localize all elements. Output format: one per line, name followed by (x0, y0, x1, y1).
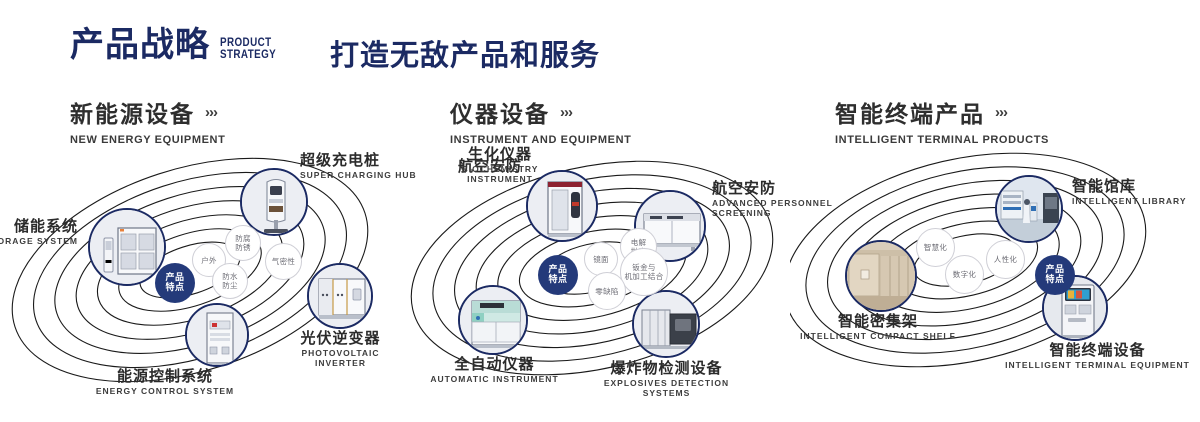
label-photovoltaic-inverter: 光伏逆变器 PHOTOVOLTAIC INVERTER (283, 330, 398, 369)
automatic-instrument-icon (460, 287, 526, 353)
compact-shelf-icon (847, 242, 915, 310)
smart-library-icon (997, 177, 1061, 241)
section-title-instrument: 仪器设备 ››› INSTRUMENT AND EQUIPMENT (450, 95, 631, 146)
label-intelligent-library: 智能馆库 INTELLIGENT LIBRARY (1072, 178, 1200, 207)
section-title-new-energy: 新能源设备 ››› NEW ENERGY EQUIPMENT (70, 95, 225, 146)
node-label-en: ENERGY STORAGE SYSTEM (0, 237, 78, 247)
node-label-cn: 能源控制系统 (80, 368, 250, 385)
section-title-terminal: 智能终端产品 ››› INTELLIGENT TERMINAL PRODUCTS (835, 95, 1049, 146)
node-energy-storage-system[interactable] (88, 208, 166, 286)
chevron-right-icon: ››› (560, 104, 572, 121)
hub-label-line2: 特点 (548, 275, 567, 285)
section-title-en: NEW ENERGY EQUIPMENT (70, 134, 225, 146)
section-title-cn: 智能终端产品 (835, 95, 985, 129)
node-label-en: INTELLIGENT LIBRARY (1072, 197, 1200, 207)
node-intelligent-compact-shelf[interactable] (845, 240, 917, 312)
hub-label-line2: 特点 (165, 283, 184, 293)
inverter-cabinet-icon (309, 265, 371, 327)
node-explosives-detection-systems[interactable] (632, 290, 700, 358)
node-label-en: INTELLIGENT COMPACT SHELF (798, 332, 958, 342)
node-label-en: ENERGY CONTROL SYSTEM (80, 387, 250, 397)
section-title-cn: 仪器设备 (450, 95, 550, 129)
brand-title-en-line2: STRATEGY (220, 48, 276, 60)
product-strategy-infographic: 产品战略 PRODUCT STRATEGY 打造无敌产品和服务 新能源设备 ››… (0, 0, 1200, 422)
node-label-cn: 储能系统 (0, 218, 78, 235)
node-label-en: BIOCHEMISTRY INSTRUMENT (430, 165, 570, 185)
node-label-en: PHOTOVOLTAIC INVERTER (283, 349, 398, 369)
node-intelligent-library[interactable] (995, 175, 1063, 243)
brand-header: 产品战略 PRODUCT STRATEGY (70, 28, 288, 62)
cluster-new-energy: 储能系统 ENERGY STORAGE SYSTEM 超级充电桩 SUPER C… (0, 150, 400, 410)
feature-tag[interactable]: 人性化 (986, 240, 1025, 279)
brand-title-en: PRODUCT STRATEGY (220, 36, 276, 60)
section-title-en: INTELLIGENT TERMINAL PRODUCTS (835, 134, 1049, 146)
node-automatic-instrument[interactable] (458, 285, 528, 355)
section-title-cn: 新能源设备 (70, 95, 195, 129)
node-label-cn: 智能密集架 (798, 313, 958, 330)
label-intelligent-compact-shelf: 智能密集架 INTELLIGENT COMPACT SHELF (798, 313, 958, 342)
feature-tag[interactable]: 镜面 (584, 242, 618, 276)
hub-product-features[interactable]: 产品 特点 (155, 263, 195, 303)
node-energy-control-system[interactable] (185, 303, 249, 367)
node-label-cn: 爆炸物检测设备 (584, 360, 749, 377)
feature-tag[interactable]: 零缺陷 (588, 272, 626, 310)
node-photovoltaic-inverter[interactable] (307, 263, 373, 329)
feature-tag[interactable]: 钣金与 机加工结合 (620, 248, 668, 296)
cluster-intelligent-terminal: 智能馆库 INTELLIGENT LIBRARY 智能密集架 (790, 150, 1190, 410)
feature-tag[interactable]: 数字化 (945, 255, 984, 294)
headline-text: 打造无敌产品和服务 (330, 32, 600, 74)
node-label-en: AUTOMATIC INSTRUMENT (427, 375, 562, 385)
label-automatic-instrument: 全自动仪器 AUTOMATIC INSTRUMENT (427, 356, 562, 385)
label-intelligent-terminal-equipment: 智能终端设备 INTELLIGENT TERMINAL EQUIPMENT (1005, 342, 1190, 371)
node-label-cn: 全自动仪器 (427, 356, 562, 373)
node-label-en: EXPLOSIVES DETECTION SYSTEMS (584, 379, 749, 399)
label-biochemistry-instrument: 生化仪器 BIOCHEMISTRY INSTRUMENT (430, 146, 570, 185)
hub-product-features[interactable]: 产品 特点 (1035, 255, 1075, 295)
cluster-instrument: 航空安防 生化仪器 BIOCHEMISTRY INSTRUMENT (392, 150, 792, 410)
node-label-cn: 光伏逆变器 (283, 330, 398, 347)
control-cabinet-icon (187, 305, 247, 365)
chevron-right-icon: ››› (205, 104, 217, 121)
explosive-detector-icon (634, 292, 698, 356)
brand-title-cn: 产品战略 (70, 28, 210, 62)
hub-label-line1: 产品 (548, 265, 567, 275)
battery-cabinet-icon (90, 210, 164, 284)
feature-tag[interactable]: 防腐 防锈 (225, 225, 261, 261)
node-label-cn: 生化仪器 (430, 146, 570, 163)
feature-tag[interactable]: 气密性 (265, 243, 302, 280)
node-label-cn: 智能馆库 (1072, 178, 1200, 195)
hub-label-line1: 产品 (1045, 265, 1064, 275)
hub-product-features[interactable]: 产品 特点 (538, 255, 578, 295)
label-energy-control-system: 能源控制系统 ENERGY CONTROL SYSTEM (80, 368, 250, 397)
label-energy-storage-system: 储能系统 ENERGY STORAGE SYSTEM (0, 218, 78, 247)
label-explosives-detection-systems: 爆炸物检测设备 EXPLOSIVES DETECTION SYSTEMS (584, 360, 749, 399)
feature-tag[interactable]: 防水 防尘 (212, 263, 248, 299)
charging-pile-icon (242, 170, 306, 234)
node-label-en: INTELLIGENT TERMINAL EQUIPMENT (1005, 361, 1190, 371)
hub-label-line1: 产品 (165, 273, 184, 283)
node-label-cn: 智能终端设备 (1005, 342, 1190, 359)
chevron-right-icon: ››› (995, 104, 1007, 121)
hub-label-line2: 特点 (1045, 275, 1064, 285)
